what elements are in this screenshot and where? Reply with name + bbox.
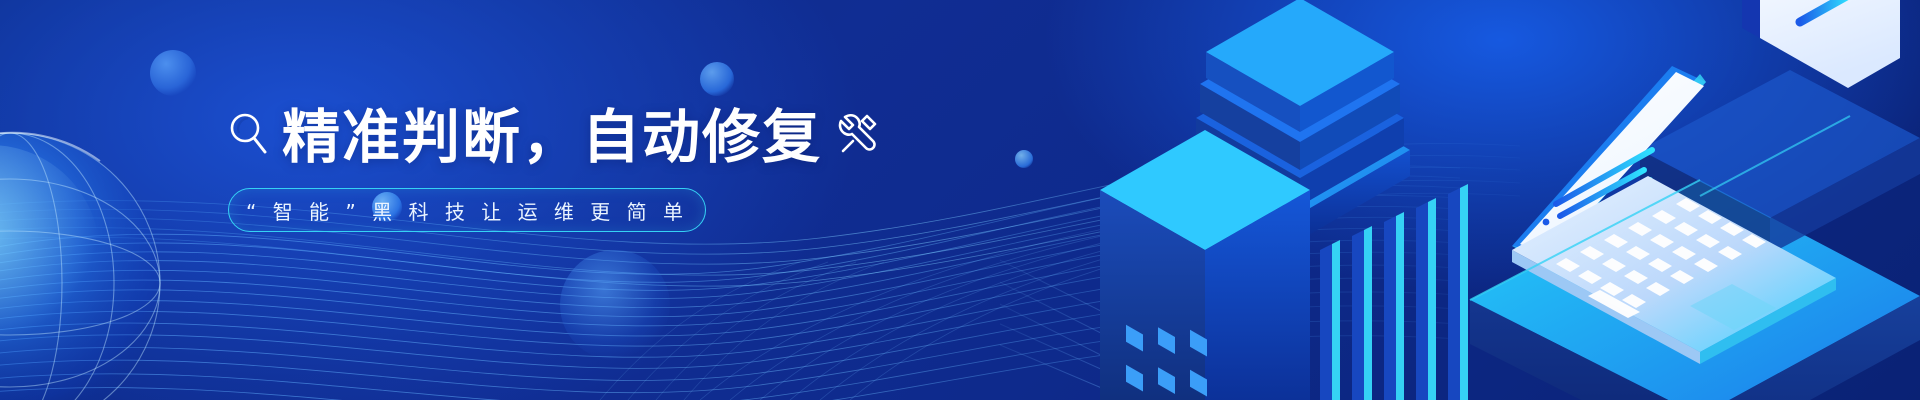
- banner-copy: 精准判断，自动修复 “ 智 能 ” 黑 科 技 让 运 维 更 简 单: [228, 100, 848, 250]
- isometric-illustration: [1000, 0, 1920, 400]
- subtitle-pill: “ 智 能 ” 黑 科 技 让 运 维 更 简 单: [228, 188, 706, 232]
- wrench-icon: [836, 111, 882, 164]
- isometric-fin-stripes: [1320, 184, 1468, 400]
- isometric-document-card: [1742, 0, 1900, 88]
- headline-row: 精准判断，自动修复: [228, 100, 848, 174]
- page-title: 精准判断，自动修复: [282, 108, 822, 166]
- wireframe-globe-decoration: [0, 115, 190, 400]
- subtitle-text: “ 智 能 ” 黑 科 技 让 运 维 更 简 单: [246, 196, 688, 225]
- hero-banner: 精准判断，自动修复 “ 智 能 ” 黑 科 技 让 运 维 更 简 单: [0, 0, 1920, 400]
- bokeh-circle: [700, 62, 734, 96]
- bokeh-circle: [560, 250, 670, 360]
- magnifier-icon: [228, 111, 268, 164]
- bokeh-circle: [150, 50, 196, 96]
